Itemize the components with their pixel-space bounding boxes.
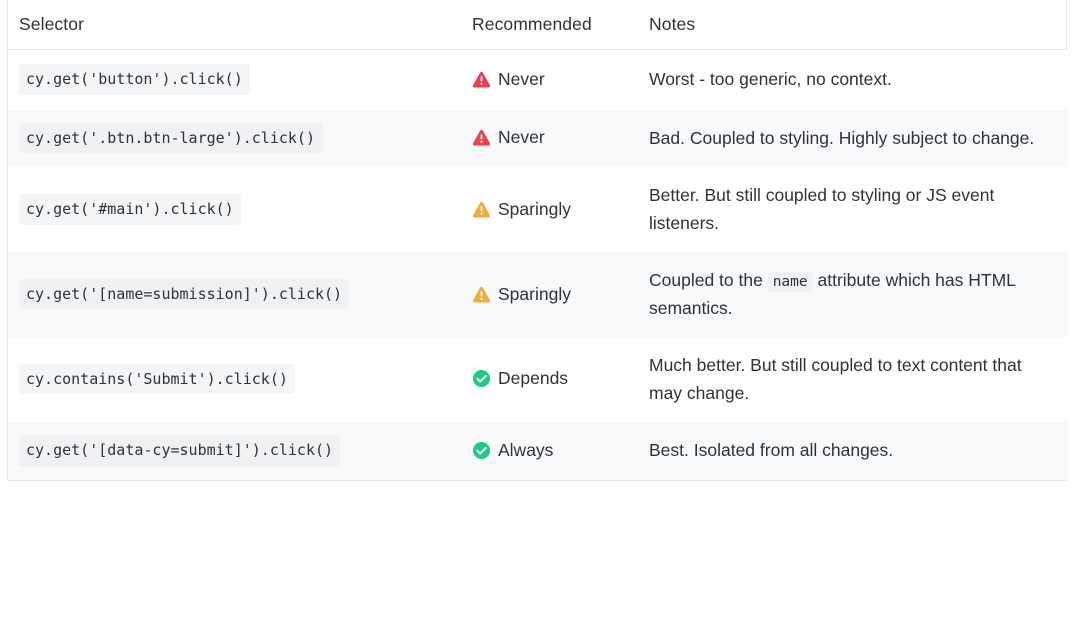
recommendation-label: Never (498, 126, 545, 149)
cell-recommended: Always (464, 421, 640, 480)
cell-recommended: Never (464, 50, 640, 109)
cell-notes: Worst - too generic, no context. (640, 50, 1068, 109)
notes-text: Worst - too generic, no context. (649, 65, 1048, 93)
cell-selector: cy.get('button').click() (8, 50, 464, 109)
recommendation-badge: Depends (472, 367, 634, 390)
recommendation-badge: Sparingly (472, 198, 634, 221)
selector-code-chip: cy.get('[data-cy=submit]').click() (19, 435, 340, 466)
recommendation-badge: Sparingly (472, 283, 634, 306)
cell-recommended: Sparingly (464, 167, 640, 252)
recommendation-label: Sparingly (498, 198, 571, 221)
selector-code-chip: cy.get('#main').click() (19, 194, 241, 225)
cell-notes: Much better. But still coupled to text c… (640, 337, 1068, 422)
selector-best-practices-table: Selector Recommended Notes cy.get('butto… (7, 0, 1067, 481)
check-circle-icon (472, 369, 491, 388)
warning-triangle-icon (472, 200, 491, 219)
selector-code-chip: cy.contains('Submit').click() (19, 364, 295, 395)
cell-notes: Coupled to the name attribute which has … (640, 252, 1068, 337)
table-body: cy.get('button').click()NeverWorst - too… (8, 50, 1068, 480)
table-row: cy.get('#main').click()SparinglyBetter. … (8, 167, 1068, 252)
selector-code-chip: cy.get('[name=submission]').click() (19, 279, 349, 310)
column-header-selector: Selector (8, 0, 464, 50)
warning-triangle-icon (472, 70, 491, 89)
recommendation-label: Depends (498, 367, 568, 390)
cell-selector: cy.get('#main').click() (8, 167, 464, 252)
selector-code-chip: cy.get('.btn.btn-large').click() (19, 123, 322, 154)
check-circle-icon (472, 441, 491, 460)
cell-recommended: Depends (464, 337, 640, 422)
table-header: Selector Recommended Notes (8, 0, 1068, 50)
column-header-notes: Notes (640, 0, 1068, 50)
table-row: cy.get('button').click()NeverWorst - too… (8, 50, 1068, 109)
table-row: cy.get('.btn.btn-large').click()NeverBad… (8, 109, 1068, 168)
notes-text: Best. Isolated from all changes. (649, 436, 1048, 464)
notes-text: Bad. Coupled to styling. Highly subject … (649, 124, 1048, 152)
recommendation-label: Never (498, 68, 545, 91)
recommendation-badge: Never (472, 68, 634, 91)
warning-triangle-icon (472, 128, 491, 147)
recommendation-badge: Always (472, 439, 634, 462)
table-header-row: Selector Recommended Notes (8, 0, 1068, 50)
warning-triangle-icon (472, 285, 491, 304)
cell-recommended: Sparingly (464, 252, 640, 337)
table-row: cy.get('[name=submission]').click()Spari… (8, 252, 1068, 337)
cell-selector: cy.get('.btn.btn-large').click() (8, 109, 464, 168)
column-header-recommended: Recommended (464, 0, 640, 50)
selector-code-chip: cy.get('button').click() (19, 64, 250, 95)
inline-code-chip: name (768, 272, 813, 292)
notes-text: Coupled to the name attribute which has … (649, 266, 1048, 323)
cell-selector: cy.contains('Submit').click() (8, 337, 464, 422)
cell-notes: Best. Isolated from all changes. (640, 421, 1068, 480)
recommendation-label: Sparingly (498, 283, 571, 306)
comparison-table: Selector Recommended Notes cy.get('butto… (8, 0, 1068, 480)
table-row: cy.contains('Submit').click()DependsMuch… (8, 337, 1068, 422)
notes-text: Much better. But still coupled to text c… (649, 351, 1048, 408)
cell-recommended: Never (464, 109, 640, 168)
notes-text: Better. But still coupled to styling or … (649, 181, 1048, 238)
cell-selector: cy.get('[data-cy=submit]').click() (8, 421, 464, 480)
recommendation-label: Always (498, 439, 553, 462)
cell-notes: Bad. Coupled to styling. Highly subject … (640, 109, 1068, 168)
recommendation-badge: Never (472, 126, 634, 149)
cell-selector: cy.get('[name=submission]').click() (8, 252, 464, 337)
table-row: cy.get('[data-cy=submit]').click()Always… (8, 421, 1068, 480)
cell-notes: Better. But still coupled to styling or … (640, 167, 1068, 252)
